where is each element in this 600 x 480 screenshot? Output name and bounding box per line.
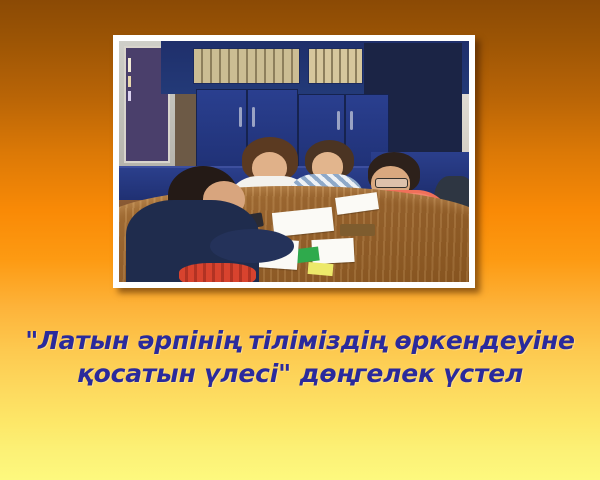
- presentation-slide: "Латын әрпінің тіліміздің өркендеуіне қо…: [0, 0, 600, 480]
- board-poster-3: [128, 91, 131, 101]
- board-poster-2: [128, 76, 131, 87]
- bag-of-tomatoes: [179, 263, 256, 282]
- board-poster-1: [128, 58, 131, 72]
- shelf-jars-left: [193, 48, 300, 84]
- sticky-note-yellow: [308, 262, 333, 276]
- slide-caption: "Латын әрпінің тіліміздің өркендеуіне қо…: [0, 324, 600, 390]
- photo-frame: [113, 35, 475, 288]
- notebook: [340, 224, 375, 236]
- roundtable-photo: [119, 41, 469, 282]
- shelf-jars-right: [308, 48, 363, 84]
- eyeglasses-icon: [375, 178, 409, 187]
- person-1-arm: [210, 229, 294, 263]
